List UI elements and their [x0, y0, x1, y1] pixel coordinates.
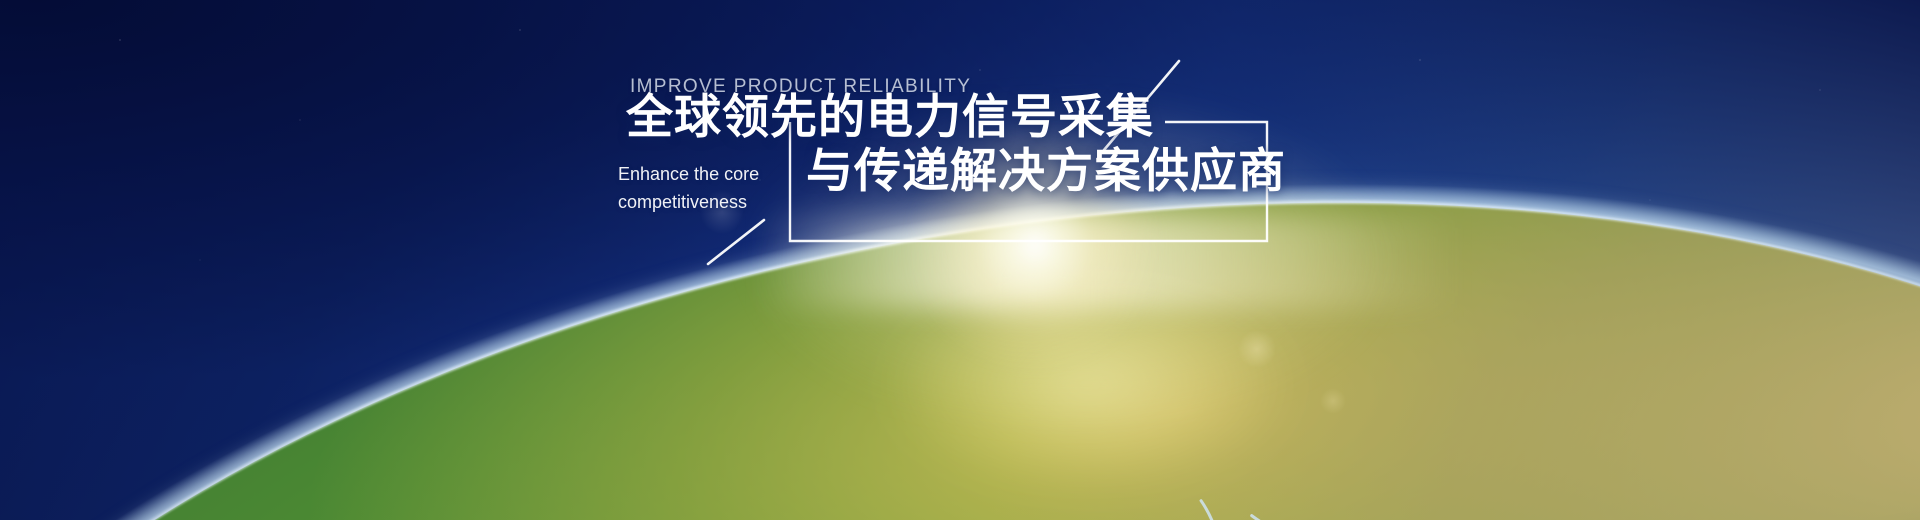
subline-block: Enhance the core competitiveness — [618, 160, 759, 216]
subline-line-1: Enhance the core — [618, 160, 759, 188]
headline-line-1: 全球领先的电力信号采集 — [626, 88, 1154, 146]
hero-banner: IMPROVE PRODUCT RELIABILITY 全球领先的电力信号采集 … — [0, 0, 1920, 520]
headline-line-2: 与传递解决方案供应商 — [806, 142, 1286, 200]
banner-content: IMPROVE PRODUCT RELIABILITY 全球领先的电力信号采集 … — [0, 0, 1920, 520]
subline-line-2: competitiveness — [618, 188, 759, 216]
